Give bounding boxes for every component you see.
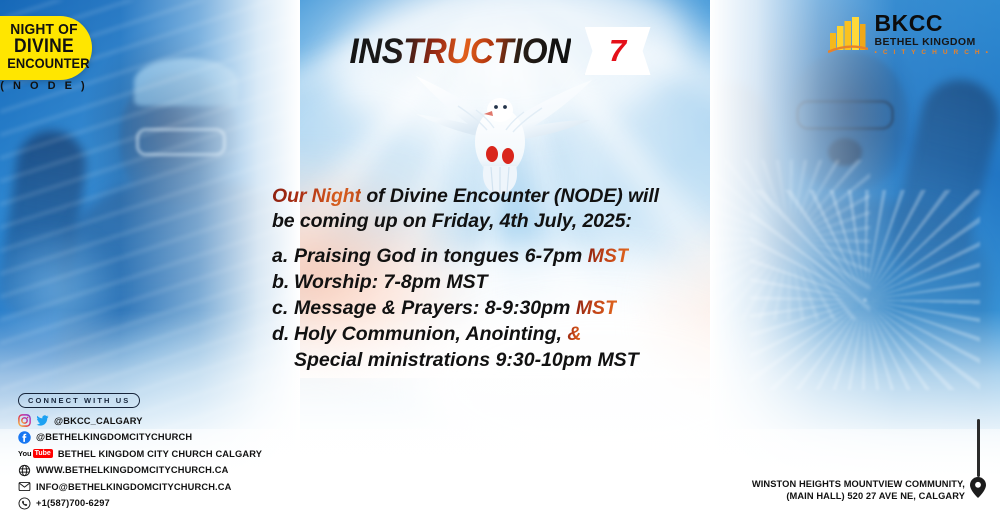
twitter-icon[interactable] (36, 414, 49, 427)
list-item-text: Praising God in tongues 6-7pm MST (294, 244, 772, 270)
contact-row-email[interactable]: INFO@BETHELKINGDOMCITYCHURCH.CA (18, 480, 262, 493)
list-item-accent: MST (576, 297, 617, 319)
list-item-body: Message & Prayers: 8-9:30pm (294, 297, 576, 319)
instruction-number-ribbon: 7 (585, 27, 651, 75)
youtube-icon[interactable]: You Tube (18, 449, 53, 458)
node-badge-line1: NIGHT OF (7, 22, 81, 37)
phone-number: +1(587)700-6297 (36, 498, 110, 508)
instagram-icon[interactable] (18, 414, 31, 427)
globe-icon[interactable] (18, 464, 31, 477)
list-item-text: Worship: 7-8pm MST (294, 270, 772, 296)
contact-row-phone[interactable]: +1(587)700-6297 (18, 497, 262, 510)
headline-accent: Our Night (272, 185, 361, 207)
bkcc-tagline: • C I T Y C H U R C H • (875, 50, 990, 57)
facebook-handle: @BETHELKINGDOMCITYCHURCH (36, 432, 192, 442)
node-badge-line2: DIVINE (7, 37, 81, 56)
main-copy: Our Night of Divine Encounter (NODE) wil… (272, 184, 772, 374)
pin-stem (977, 419, 980, 477)
bkcc-subtitle: BETHEL KINGDOM (875, 37, 990, 48)
contact-row-facebook[interactable]: @BETHELKINGDOMCITYCHURCH (18, 431, 262, 444)
address-line2: (MAIN HALL) 520 27 AVE NE, CALGARY (752, 490, 965, 503)
address-block: WINSTON HEIGHTS MOUNTVIEW COMMUNITY, (MA… (752, 419, 986, 503)
schedule-list: a. Praising God in tongues 6-7pm MST b. … (272, 244, 772, 374)
bkcc-logo-text: BKCC BETHEL KINGDOM • C I T Y C H U R C … (875, 12, 990, 56)
contact-row-youtube[interactable]: You Tube BETHEL KINGDOM CITY CHURCH CALG… (18, 447, 262, 460)
list-item-text: Message & Prayers: 8-9:30pm MST (294, 296, 772, 322)
email-icon[interactable] (18, 480, 31, 493)
list-item-body: Praising God in tongues 6-7pm (294, 245, 588, 267)
list-item: d. Holy Communion, Anointing, & (272, 322, 772, 348)
node-badge-lines: NIGHT OF DIVINE ENCOUNTER (4, 22, 84, 70)
list-item: c. Message & Prayers: 8-9:30pm MST (272, 296, 772, 322)
phone-icon[interactable] (18, 497, 31, 510)
list-item-text: Holy Communion, Anointing, & (294, 322, 772, 348)
email-address: INFO@BETHELKINGDOMCITYCHURCH.CA (36, 482, 232, 492)
list-item-accent: & (567, 323, 581, 345)
youtube-channel: BETHEL KINGDOM CITY CHURCH CALGARY (58, 449, 262, 459)
connect-with-us-label: CONNECT WITH US (18, 393, 140, 409)
list-item-marker: d. (272, 322, 294, 348)
website-url: WWW.BETHELKINGDOMCITYCHURCH.CA (36, 465, 229, 475)
node-badge: NIGHT OF DIVINE ENCOUNTER ( N O D E ) (0, 16, 92, 80)
bkcc-name: BKCC (875, 12, 990, 35)
list-item: b. Worship: 7-8pm MST (272, 270, 772, 296)
list-item-body: Worship: 7-8pm MST (294, 271, 488, 293)
headline: Our Night of Divine Encounter (NODE) wil… (272, 184, 772, 234)
node-badge-acronym: ( N O D E ) (0, 80, 96, 92)
location-pin-icon (970, 477, 986, 503)
facebook-icon[interactable] (18, 431, 31, 444)
list-item-marker: a. (272, 244, 294, 270)
bkcc-building-icon (828, 13, 868, 55)
list-item: a. Praising God in tongues 6-7pm MST (272, 244, 772, 270)
headline-rest: of Divine Encounter (NODE) will (361, 185, 659, 207)
contact-row-social[interactable]: @BKCC_CALGARY (18, 414, 262, 427)
address-text: WINSTON HEIGHTS MOUNTVIEW COMMUNITY, (MA… (752, 478, 965, 503)
headline-line2: be coming up on Friday, 4th July, 2025: (272, 210, 632, 232)
bkcc-logo: BKCC BETHEL KINGDOM • C I T Y C H U R C … (828, 12, 990, 56)
flyer-canvas: NIGHT OF DIVINE ENCOUNTER ( N O D E ) BK… (0, 0, 1000, 525)
instruction-number: 7 (609, 33, 626, 69)
instruction-title: INSTRUCTION (349, 30, 570, 71)
list-item-continuation: Special ministrations 9:30-10pm MST (272, 348, 772, 374)
list-item-body: Holy Communion, Anointing, (294, 323, 567, 345)
social-handle: @BKCC_CALGARY (54, 416, 143, 426)
list-item-accent: MST (588, 245, 629, 267)
contact-row-website[interactable]: WWW.BETHELKINGDOMCITYCHURCH.CA (18, 464, 262, 477)
list-item-marker: b. (272, 270, 294, 296)
contact-block: CONNECT WITH US @BKCC_CALGARY @BETHELK (18, 390, 262, 514)
list-item-marker: c. (272, 296, 294, 322)
dove-illustration (392, 66, 608, 194)
node-badge-line3: ENCOUNTER (7, 56, 81, 70)
location-pin-column (970, 419, 986, 503)
address-line1: WINSTON HEIGHTS MOUNTVIEW COMMUNITY, (752, 478, 965, 491)
